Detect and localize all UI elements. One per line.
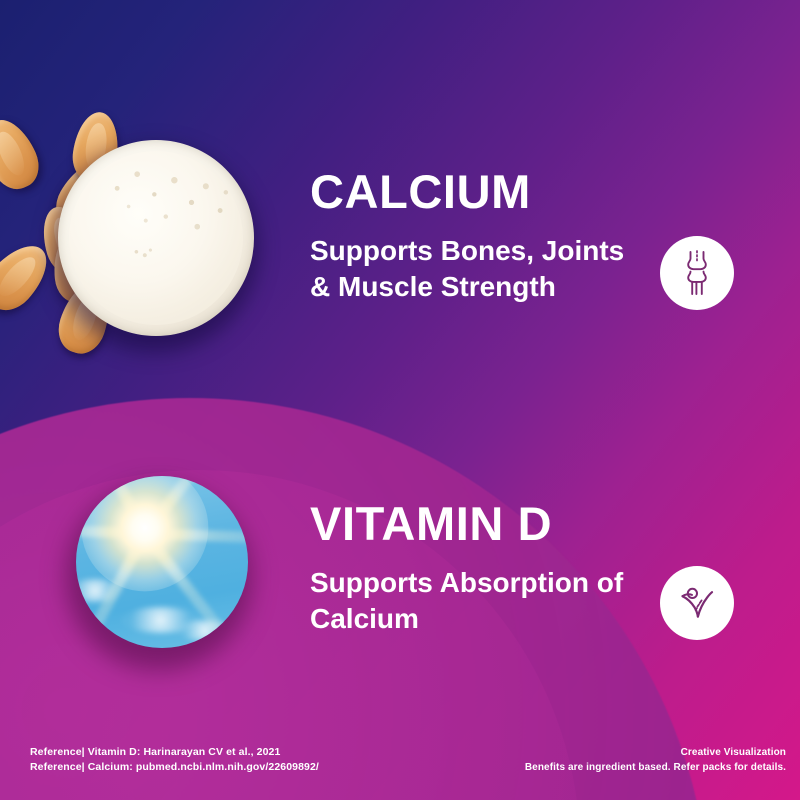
vitamind-badge[interactable] (660, 566, 734, 640)
bone-joint-icon (677, 250, 717, 296)
disclaimer-line-2: Benefits are ingredient based. Refer pac… (525, 760, 786, 775)
calcium-subline: Supports Bones, Joints & Muscle Strength (310, 233, 670, 305)
person-sun-icon (675, 581, 719, 625)
milk-bubbles (69, 151, 243, 325)
reference-text: Reference| Vitamin D: Harinarayan CV et … (30, 745, 319, 775)
disclaimer-text: Creative Visualization Benefits are ingr… (525, 745, 786, 775)
milk-glass-image (58, 140, 254, 336)
sun-glow (81, 476, 208, 591)
sun-circle (76, 476, 248, 648)
vitamind-subline: Supports Absorption of Calcium (310, 565, 670, 637)
vitamind-text-block: VITAMIN D Supports Absorption of Calcium (310, 500, 670, 637)
calcium-text-block: CALCIUM Supports Bones, Joints & Muscle … (310, 168, 670, 305)
sun-sky-image (76, 476, 248, 648)
promo-graphic: CALCIUM Supports Bones, Joints & Muscle … (0, 0, 800, 800)
calcium-headline: CALCIUM (310, 168, 670, 215)
calcium-badge[interactable] (660, 236, 734, 310)
vitamind-headline: VITAMIN D (310, 500, 670, 547)
disclaimer-line-1: Creative Visualization (525, 745, 786, 760)
